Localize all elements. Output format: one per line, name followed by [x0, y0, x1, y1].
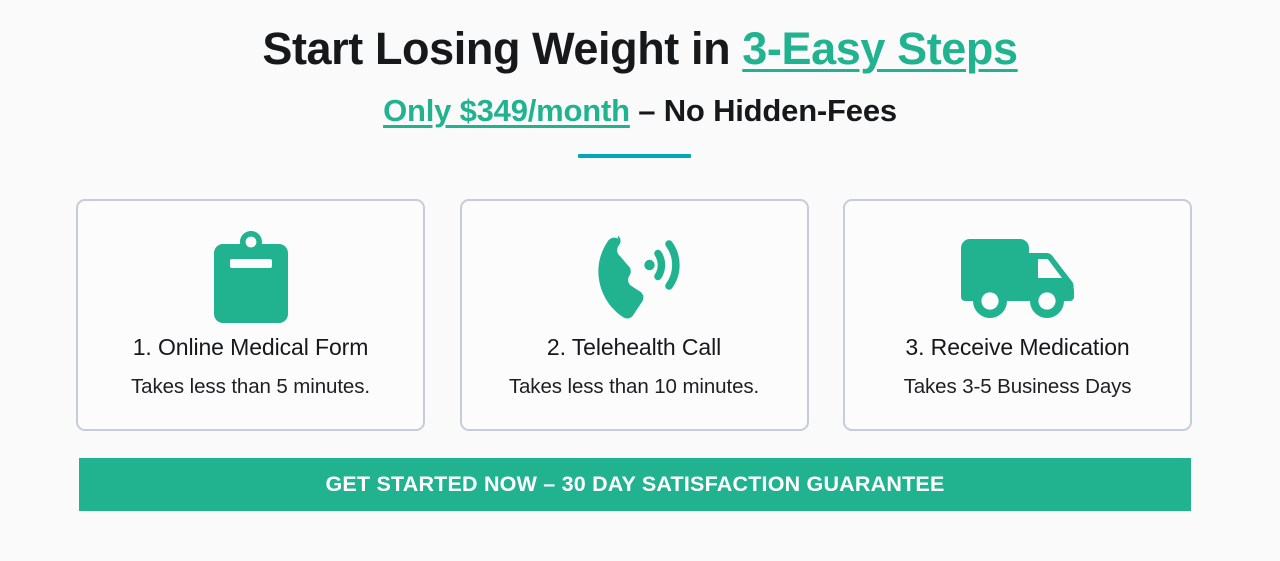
delivery-truck-icon — [959, 228, 1077, 326]
subheadline-price-text: Only $349/month — [383, 93, 630, 128]
clipboard-icon — [209, 228, 293, 326]
step-card-subtitle: Takes less than 10 minutes. — [509, 375, 759, 400]
step-card-telehealth-call: 2. Telehealth Call Takes less than 10 mi… — [460, 199, 809, 431]
step-card-title: 2. Telehealth Call — [547, 334, 721, 362]
step-card-subtitle: Takes less than 5 minutes. — [131, 375, 370, 400]
landing-page-section: Start Losing Weight in 3-Easy Steps Only… — [0, 0, 1280, 561]
page-subtitle: Only $349/month – No Hidden-Fees — [0, 92, 1280, 131]
headline-lead-text: Start Losing Weight in — [262, 23, 742, 74]
headline-accent-text: 3-Easy Steps — [742, 23, 1017, 74]
get-started-button-label: GET STARTED NOW – 30 DAY SATISFACTION GU… — [325, 472, 944, 497]
step-card-receive-medication: 3. Receive Medication Takes 3-5 Business… — [843, 199, 1192, 431]
section-divider — [578, 154, 691, 158]
step-card-title: 1. Online Medical Form — [133, 334, 369, 362]
phone-call-icon — [588, 228, 680, 326]
steps-list: 1. Online Medical Form Takes less than 5… — [76, 199, 1192, 431]
subheadline-rest-text: – No Hidden-Fees — [630, 93, 897, 128]
step-card-online-medical-form: 1. Online Medical Form Takes less than 5… — [76, 199, 425, 431]
page-title: Start Losing Weight in 3-Easy Steps — [0, 22, 1280, 75]
step-card-title: 3. Receive Medication — [905, 334, 1129, 362]
step-card-subtitle: Takes 3-5 Business Days — [904, 375, 1132, 400]
get-started-button[interactable]: GET STARTED NOW – 30 DAY SATISFACTION GU… — [79, 458, 1191, 511]
